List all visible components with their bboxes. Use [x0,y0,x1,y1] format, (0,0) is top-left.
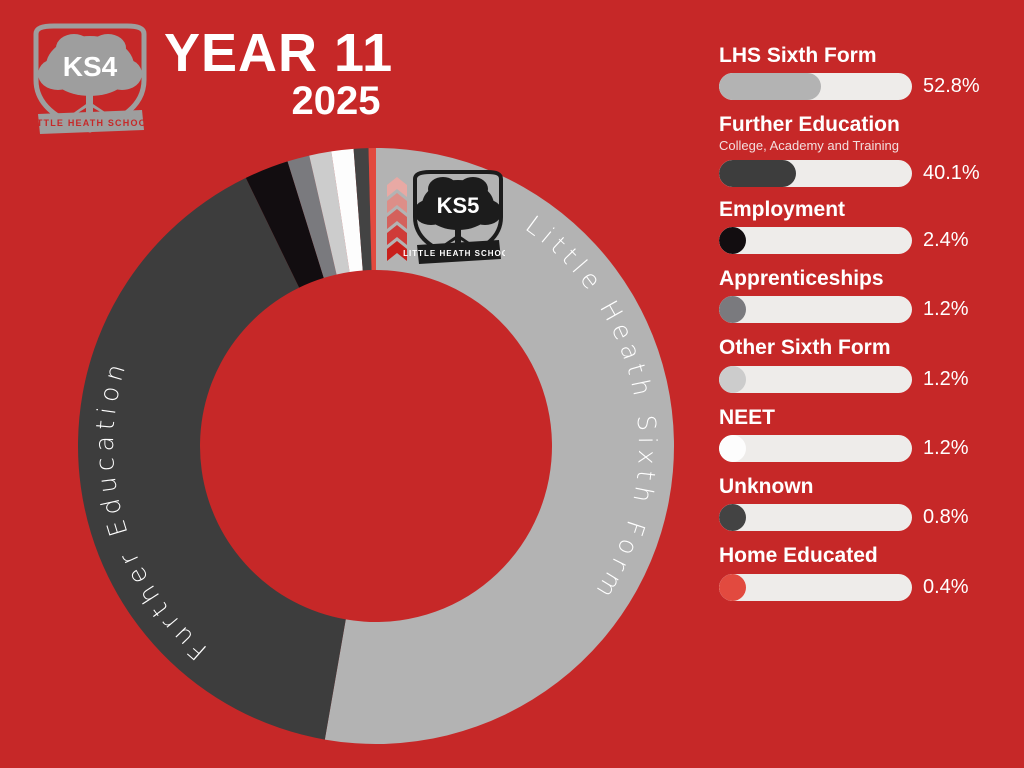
legend-bar-fill [719,160,796,187]
legend-bar-row: 52.8% [719,73,1019,100]
legend-item-label: LHS Sixth Form [719,44,1019,68]
legend-bar-track [719,296,912,323]
legend-item: Apprenticeships1.2% [719,267,1019,323]
header: KS4 LITTLE HEATH SCHOOL YEAR 11 2025 [0,0,700,150]
legend-bar-row: 1.2% [719,296,1019,323]
ks4-logo-text: KS4 [63,51,118,82]
legend-item-sublabel: College, Academy and Training [719,138,1019,155]
legend-item: Home Educated0.4% [719,544,1019,600]
legend-item-label: Unknown [719,475,1019,499]
legend-item-value: 1.2% [923,298,969,321]
legend-item-label: Apprenticeships [719,267,1019,291]
legend-item-value: 2.4% [923,229,969,252]
legend-item: LHS Sixth Form52.8% [719,44,1019,100]
legend-bar-row: 40.1% [719,160,1019,187]
legend-item-value: 1.2% [923,437,969,460]
legend-bar-fill [719,366,746,393]
legend-bar-fill [719,504,746,531]
legend-item-label: Further Education [719,113,1019,137]
legend-bar-fill [719,227,746,254]
legend-bar-fill [719,435,746,462]
infographic-canvas: KS4 LITTLE HEATH SCHOOL YEAR 11 2025 [0,0,1024,768]
legend-bar-row: 0.8% [719,504,1019,531]
legend-bar-track [719,574,912,601]
legend-bar-track [719,227,912,254]
legend-item-value: 0.8% [923,506,969,529]
legend-bar-track [719,435,912,462]
legend-bar-track [719,504,912,531]
legend-bar-fill [719,73,821,100]
legend-item: Other Sixth Form1.2% [719,336,1019,392]
legend-bar-row: 0.4% [719,574,1019,601]
legend-item-label: Other Sixth Form [719,336,1019,360]
legend-bar-fill [719,574,746,601]
legend-item-value: 52.8% [923,75,980,98]
legend-item-label: Employment [719,198,1019,222]
legend-item-label: NEET [719,406,1019,430]
legend-bar-row: 1.2% [719,366,1019,393]
legend-bar-row: 1.2% [719,435,1019,462]
ks4-shield-logo: KS4 LITTLE HEATH SCHOOL [24,22,156,140]
page-title: YEAR 11 [164,26,494,80]
ks5-logo-banner-text: LITTLE HEATH SCHOOL [403,249,505,258]
ks5-shield-logo: KS5 LITTLE HEATH SCHOOL [383,163,505,281]
legend-item: NEET1.2% [719,406,1019,462]
legend-item-label: Home Educated [719,544,1019,568]
legend: LHS Sixth Form52.8%Further EducationColl… [719,44,1019,614]
page-subtitle: 2025 [164,80,494,122]
ks4-logo-banner-text: LITTLE HEATH SCHOOL [26,118,153,128]
legend-bar-track [719,366,912,393]
legend-item-value: 1.2% [923,368,969,391]
legend-item-value: 0.4% [923,576,969,599]
legend-item: Unknown0.8% [719,475,1019,531]
legend-item-value: 40.1% [923,162,980,185]
title-block: YEAR 11 2025 [164,26,494,122]
legend-bar-row: 2.4% [719,227,1019,254]
legend-bar-fill [719,296,746,323]
donut-chart: Little Heath Sixth Form Further Educatio… [78,148,674,744]
legend-bar-track [719,160,912,187]
legend-item: Employment2.4% [719,198,1019,254]
donut-slices [78,148,674,744]
legend-bar-track [719,73,912,100]
legend-item: Further EducationCollege, Academy and Tr… [719,113,1019,186]
ks5-logo-text: KS5 [437,193,480,218]
